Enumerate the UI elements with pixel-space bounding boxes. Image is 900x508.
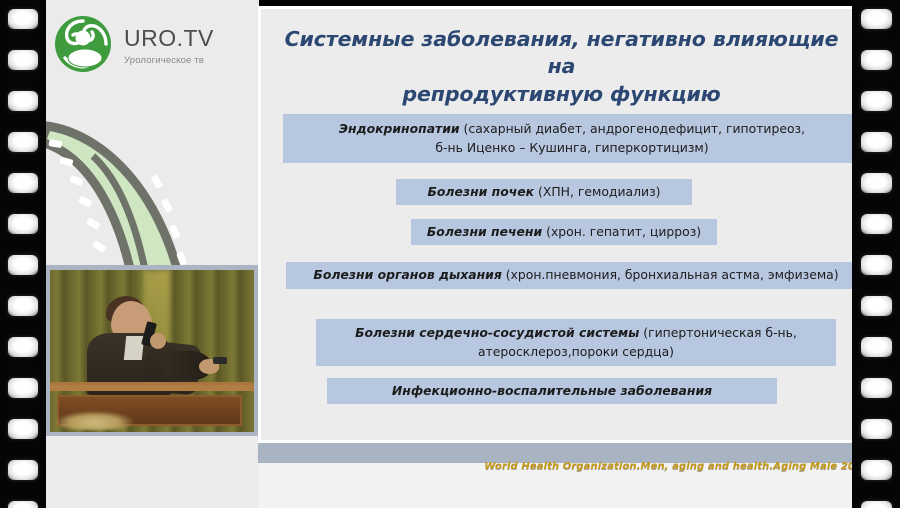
sprocket-hole-icon <box>8 501 38 508</box>
sprocket-hole-icon <box>8 337 38 357</box>
sprocket-hole-icon <box>8 296 38 316</box>
sprocket-hole-icon <box>861 255 892 275</box>
box-detail: (ХПН, гемодиализ) <box>534 184 660 199</box>
disease-box-kidney: Болезни почек (ХПН, гемодиализ) <box>396 179 692 205</box>
sprocket-hole-icon <box>861 378 892 398</box>
sprocket-hole-icon <box>861 337 892 357</box>
disease-box-cardiovascular: Болезни сердечно-сосудистой системы (гип… <box>316 319 836 366</box>
slide-bottom-bar <box>258 443 862 463</box>
disease-box-infectious: Инфекционно-воспалительные заболевания <box>327 378 777 404</box>
disease-box-respiratory: Болезни органов дыхания (хрон.пневмония,… <box>286 262 862 289</box>
sprocket-hole-icon <box>8 9 38 29</box>
sprocket-hole-icon <box>8 91 38 111</box>
film-strip-right <box>852 0 900 508</box>
pointer-device <box>213 357 227 363</box>
slide-citation: World Health Organization.Men, aging and… <box>258 461 862 472</box>
sprocket-hole-icon <box>861 501 892 508</box>
disease-box-endocrinopathies: Эндокринопатии (сахарный диабет, андроге… <box>283 114 861 163</box>
podium <box>50 382 254 432</box>
box-detail-line2: б-нь Иценко – Кушинга, гиперкортицизм) <box>435 140 708 155</box>
film-strip-left <box>0 0 46 508</box>
sprocket-hole-icon <box>861 9 892 29</box>
sprocket-hole-icon <box>861 91 892 111</box>
box-detail-line2: атеросклероз,пороки сердца) <box>478 344 674 359</box>
logo-title: URO.TV <box>124 26 214 50</box>
box-detail: (хрон. гепатит, цирроз) <box>542 224 701 239</box>
sprocket-hole-icon <box>861 173 892 193</box>
box-heading: Болезни печени <box>427 224 542 239</box>
sprocket-hole-icon <box>8 419 38 439</box>
podium-emblem <box>55 411 134 430</box>
speaker-photo <box>50 270 254 432</box>
slide-title: Системные заболевания, негативно влияющи… <box>275 26 848 108</box>
box-heading: Инфекционно-воспалительные заболевания <box>392 383 712 398</box>
sprocket-hole-icon <box>8 50 38 70</box>
sprocket-hole-icon <box>8 255 38 275</box>
uro-swirl-logo-icon <box>53 14 113 74</box>
sprocket-hole-icon <box>861 132 892 152</box>
sprocket-hole-icon <box>8 214 38 234</box>
video-player-frame: URO.TV Урологическое тв <box>0 0 900 508</box>
sprocket-hole-icon <box>8 460 38 480</box>
sprocket-hole-icon <box>861 296 892 316</box>
box-detail: (гипертоническая б-нь, <box>639 325 797 340</box>
box-detail: (хрон.пневмония, бронхиальная астма, эмф… <box>502 267 839 282</box>
sprocket-hole-icon <box>8 378 38 398</box>
sprocket-hole-icon <box>861 214 892 234</box>
uro-tv-logo[interactable]: URO.TV Урологическое тв <box>53 14 214 74</box>
sprocket-hole-icon <box>861 460 892 480</box>
presentation-slide: Системные заболевания, негативно влияющи… <box>258 6 862 443</box>
disease-box-liver: Болезни печени (хрон. гепатит, цирроз) <box>411 219 717 245</box>
podium-top-surface <box>50 385 254 391</box>
sprocket-hole-icon <box>8 173 38 193</box>
branding-panel: URO.TV Урологическое тв <box>37 0 259 508</box>
box-detail: (сахарный диабет, андрогенодефицит, гипо… <box>460 121 805 136</box>
speaker-photo-inset[interactable] <box>45 265 258 436</box>
logo-subtitle: Урологическое тв <box>124 55 214 66</box>
sprocket-hole-icon <box>8 132 38 152</box>
sprocket-hole-icon <box>861 50 892 70</box>
logo-text-block: URO.TV Урологическое тв <box>124 22 214 65</box>
box-heading: Болезни сердечно-сосудистой системы <box>355 325 639 340</box>
box-heading: Болезни почек <box>427 184 534 199</box>
box-heading: Эндокринопатии <box>339 121 460 136</box>
box-heading: Болезни органов дыхания <box>313 267 501 282</box>
sprocket-hole-icon <box>861 419 892 439</box>
